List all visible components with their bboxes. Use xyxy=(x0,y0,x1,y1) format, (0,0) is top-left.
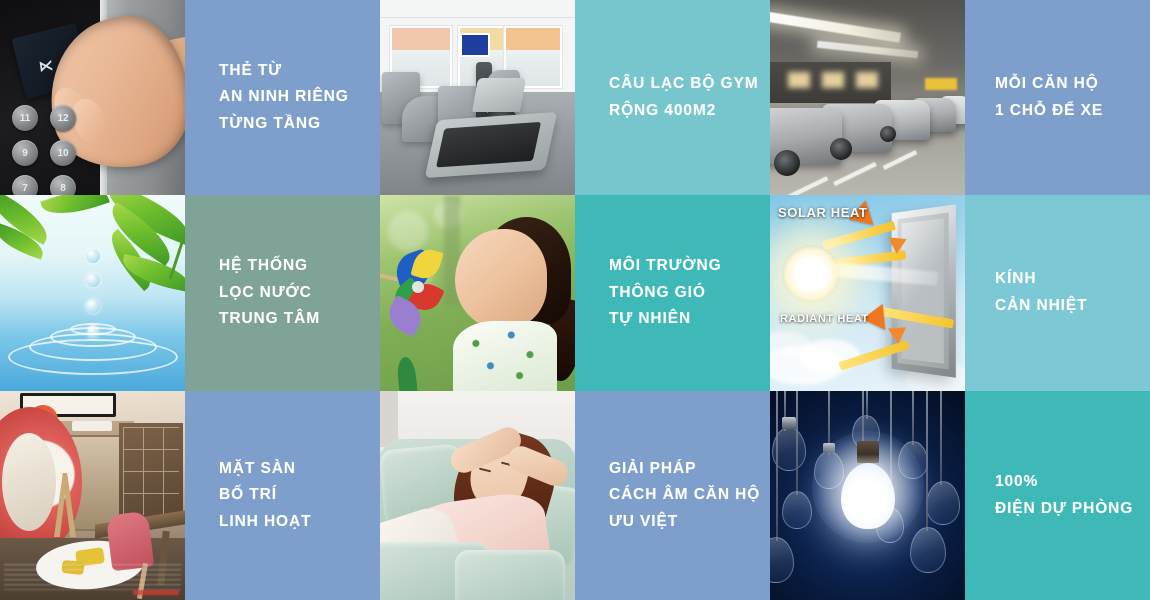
pinwheel-hub xyxy=(412,281,424,293)
water-drop-image xyxy=(0,195,185,391)
sun-icon xyxy=(782,245,840,303)
elevator-button-11[interactable]: 11 xyxy=(12,105,38,131)
flexible-floor-text-panel: MẶT SÀN BỐ TRÍ LINH HOẠT xyxy=(185,391,380,600)
keycard-text-panel: THẺ TỪ AN NINH RIÊNG TỪNG TẦNG xyxy=(185,0,380,195)
blue-wall-sign xyxy=(460,33,490,57)
elevator-button-10[interactable]: 10 xyxy=(50,140,76,166)
elevator-keycard-image: ⋉ 11 12 9 10 7 8 xyxy=(0,0,185,195)
solar-heat-diagram-image: SOLAR HEAT RADIANT HEAT xyxy=(770,195,965,391)
backup-power-text-panel: 100% ĐIỆN DỰ PHÒNG xyxy=(965,391,1150,600)
ventilation-text-line-2: THÔNG GIÓ xyxy=(609,280,760,307)
girl-pinwheel-image xyxy=(380,195,575,391)
water-text-line-1: HỆ THỐNG xyxy=(219,253,370,280)
bulb-cord xyxy=(912,391,914,445)
keycard-text-line-2: AN NINH RIÊNG xyxy=(219,84,370,111)
wall-light xyxy=(788,72,810,88)
girl-face xyxy=(455,229,547,329)
sofa-cushion xyxy=(455,550,565,600)
elevator-button-9[interactable]: 9 xyxy=(12,140,38,166)
elevator-button-8[interactable]: 8 xyxy=(50,175,76,195)
elevator-button-pad: 11 12 9 10 7 8 xyxy=(12,96,76,195)
power-text-line-2: ĐIỆN DỰ PHÒNG xyxy=(995,496,1140,523)
elevator-button-7[interactable]: 7 xyxy=(12,175,38,195)
yellow-sign xyxy=(925,78,957,90)
elevator-button-row: 7 8 xyxy=(12,175,76,195)
water-filter-text-panel: HỆ THỐNG LỌC NƯỚC TRUNG TÂM xyxy=(185,195,380,391)
glass-window-pane xyxy=(892,204,956,377)
gym-image xyxy=(380,0,575,195)
bulb-cord xyxy=(940,391,942,485)
insulation-text-line-1: GIẢI PHÁP xyxy=(609,456,760,483)
ventilation-text-line-3: TỰ NHIÊN xyxy=(609,306,760,333)
interior-room-image xyxy=(0,391,185,600)
bamboo-leaf xyxy=(40,195,110,223)
radiant-heat-label: RADIANT HEAT xyxy=(780,313,869,325)
hanging-bulb xyxy=(770,537,794,583)
parking-text-panel: MỖI CĂN HỘ 1 CHỖ ĐỂ XE xyxy=(965,0,1150,195)
insulation-text-line-2: CÁCH ÂM CĂN HỘ xyxy=(609,482,760,509)
glass-text-line-1: KÍNH xyxy=(995,266,1140,293)
watermark-text-overlay xyxy=(4,564,181,590)
bulb-cord xyxy=(796,391,798,495)
treadmill xyxy=(425,112,558,178)
parking-text-line-2: 1 CHỖ ĐỂ XE xyxy=(995,98,1140,125)
wall-light xyxy=(822,72,844,88)
watermark-red-mark xyxy=(133,590,179,595)
water-droplet xyxy=(86,249,100,263)
gym-text-panel: CÂU LẠC BỘ GYM RỘNG 400M2 xyxy=(575,0,770,195)
bulb-cord xyxy=(926,391,928,531)
wall-edge xyxy=(380,391,398,447)
water-text-line-3: TRUNG TÂM xyxy=(219,306,370,333)
ventilation-text-line-1: MÔI TRƯỜNG xyxy=(609,253,760,280)
car-wheel xyxy=(880,126,896,142)
water-droplet xyxy=(86,299,100,313)
heat-glass-text-panel: KÍNH CẢN NHIỆT xyxy=(965,195,1150,391)
gym-ceiling xyxy=(380,0,575,18)
keycard-text-line-1: THẺ TỪ xyxy=(219,58,370,85)
hanging-bulb xyxy=(926,481,960,525)
elevator-button-12[interactable]: 12 xyxy=(50,105,76,131)
window-blind xyxy=(506,28,560,50)
parking-text-line-1: MỖI CĂN HỘ xyxy=(995,71,1140,98)
girl-dress xyxy=(453,321,557,391)
insulation-text-line-3: ƯU VIỆT xyxy=(609,509,760,536)
light-bulbs-image xyxy=(770,391,965,600)
bulb-cap xyxy=(782,417,796,429)
bokeh-light xyxy=(388,211,428,251)
air-conditioner xyxy=(72,421,112,431)
bulb-cord xyxy=(776,391,778,541)
gym-text-line-1: CÂU LẠC BỘ GYM xyxy=(609,71,760,98)
woman-relaxing-image xyxy=(380,391,575,600)
lit-bulb-cap xyxy=(857,441,879,463)
hanging-bulb xyxy=(910,527,946,573)
water-ripple xyxy=(8,339,178,375)
elevator-button-row: 11 12 xyxy=(12,105,76,131)
water-droplet xyxy=(86,273,100,287)
grass xyxy=(396,356,418,391)
power-text-line-1: 100% xyxy=(995,469,1140,496)
sound-insulation-text-panel: GIẢI PHÁP CÁCH ÂM CĂN HỘ ƯU VIỆT xyxy=(575,391,770,600)
wall-shelving xyxy=(119,423,183,519)
keycard-text-line-3: TỪNG TẦNG xyxy=(219,111,370,138)
treadmill-console xyxy=(472,78,526,112)
wall-light xyxy=(856,72,878,88)
ventilation-text-panel: MÔI TRƯỜNG THÔNG GIÓ TỰ NHIÊN xyxy=(575,195,770,391)
elevator-button-row: 9 10 xyxy=(12,140,76,166)
cloud xyxy=(798,339,860,373)
solar-heat-label: SOLAR HEAT xyxy=(778,205,868,220)
lit-light-bulb xyxy=(841,463,895,529)
gym-text-line-2: RỘNG 400M2 xyxy=(609,98,760,125)
floor-text-line-2: BỐ TRÍ xyxy=(219,482,370,509)
parking-garage-image xyxy=(770,0,965,195)
desk-chair xyxy=(106,511,155,572)
pinwheel xyxy=(390,253,452,325)
car-wheel xyxy=(830,138,852,160)
floor-text-line-3: LINH HOẠT xyxy=(219,509,370,536)
car-wheel xyxy=(774,150,800,176)
hanging-bulb xyxy=(782,491,812,529)
glass-text-line-2: CẢN NHIỆT xyxy=(995,293,1140,320)
water-text-line-2: LỌC NƯỚC xyxy=(219,280,370,307)
keycard-logo: ⋉ xyxy=(38,57,52,76)
window-blind xyxy=(392,28,450,50)
features-grid: ⋉ 11 12 9 10 7 8 THẺ TỪ AN NINH RIÊNG TỪ… xyxy=(0,0,1150,600)
floor-text-line-1: MẶT SÀN xyxy=(219,456,370,483)
